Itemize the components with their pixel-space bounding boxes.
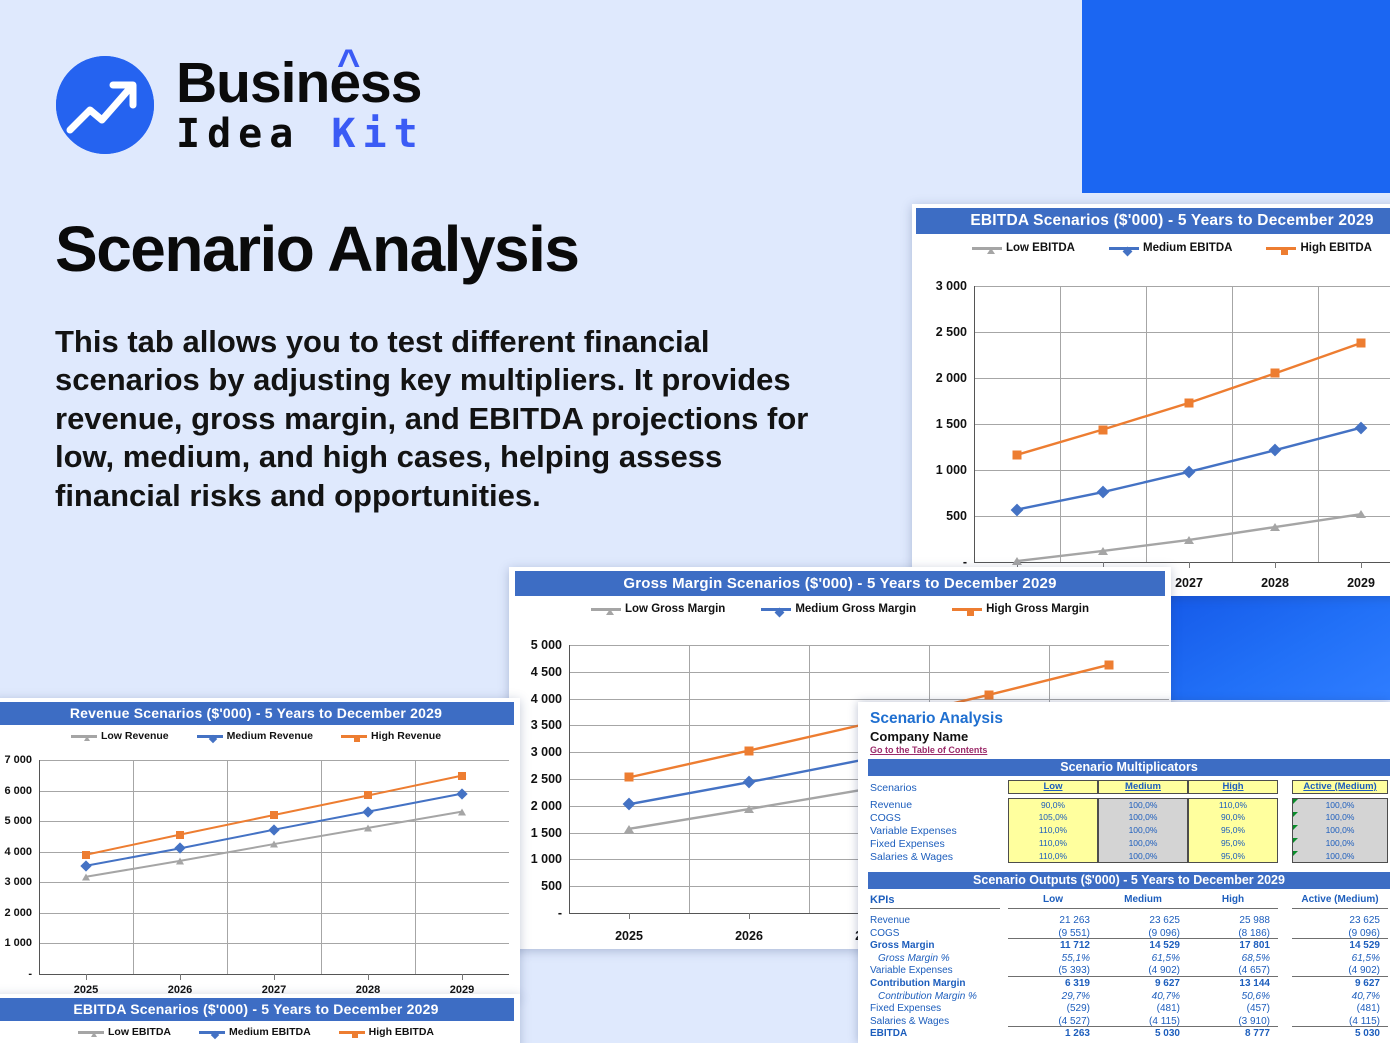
output-cell-medium: 23 625 — [1098, 915, 1180, 926]
marker-square — [1281, 248, 1288, 255]
legend-item-low-ebitda[interactable]: Low EBITDA — [78, 1026, 171, 1038]
chart-title: Revenue Scenarios ($'000) - 5 Years to D… — [0, 702, 514, 725]
multiplier-cell-medium[interactable]: 100,0% — [1098, 798, 1188, 811]
scenario-analysis-spreadsheet-panel[interactable]: Scenario Analysis Company Name Go to the… — [858, 702, 1390, 1043]
y-axis-tick-label: - — [514, 906, 562, 920]
output-cell-low: (4 527) — [1008, 1016, 1090, 1027]
y-axis-tick-label: 3 000 — [514, 745, 562, 759]
legend-label: High EBITDA — [369, 1026, 434, 1038]
marker-triangle — [270, 841, 278, 848]
output-cell-high: 50,6% — [1188, 991, 1270, 1002]
multiplier-cell-medium[interactable]: 100,0% — [1098, 824, 1188, 837]
multiplier-cell-active: 100,0% — [1292, 811, 1388, 824]
brand-name-line2: Idea Kit — [176, 114, 425, 154]
cell-comment-indicator-icon — [1293, 825, 1298, 830]
marker-triangle — [1356, 510, 1366, 518]
subtotal-rule — [1292, 976, 1388, 977]
output-cell-low: 55,1% — [1008, 953, 1090, 964]
marker-triangle — [624, 825, 634, 833]
legend-swatch — [952, 608, 982, 611]
legend-label: Medium EBITDA — [1143, 242, 1232, 254]
page-description: This tab allows you to test different fi… — [55, 323, 855, 515]
legend-item-high-gross-margin[interactable]: High Gross Margin — [952, 603, 1089, 615]
multiplier-cell-low[interactable]: 110,0% — [1008, 837, 1098, 850]
y-axis-tick-label: 5 000 — [0, 815, 32, 827]
marker-triangle — [458, 808, 466, 815]
x-axis-tick — [1189, 562, 1190, 568]
y-axis-tick-label: 3 500 — [514, 718, 562, 732]
multiplier-cell-high[interactable]: 95,0% — [1188, 837, 1278, 850]
marker-square — [458, 772, 466, 780]
legend-swatch — [199, 1031, 225, 1034]
marker-triangle — [744, 805, 754, 813]
y-axis-tick-label: 3 000 — [0, 876, 32, 888]
decorative-blue-block-middle — [1170, 588, 1390, 700]
y-axis-tick-label: 500 — [915, 509, 967, 523]
y-axis-tick-label: 500 — [514, 879, 562, 893]
subtotal-rule — [1008, 938, 1098, 939]
multiplier-cell-low[interactable]: 105,0% — [1008, 811, 1098, 824]
subtotal-rule — [1292, 1026, 1388, 1027]
multiplier-cell-medium[interactable]: 100,0% — [1098, 850, 1188, 863]
multiplier-row-label: Fixed Expenses — [870, 838, 945, 850]
multiplier-cell-low[interactable]: 110,0% — [1008, 824, 1098, 837]
x-axis-tick-label: 2028 — [1261, 576, 1289, 590]
subtotal-rule — [1292, 938, 1388, 939]
chart-title: EBITDA Scenarios ($'000) - 5 Years to De… — [916, 208, 1390, 234]
output-cell-high: (457) — [1188, 1003, 1270, 1014]
output-cell-high: 25 988 — [1188, 915, 1270, 926]
outputs-column-header-high: High — [1188, 894, 1278, 905]
output-row-label: Revenue — [870, 915, 1030, 926]
output-cell-active: 23 625 — [1292, 915, 1380, 926]
y-axis-tick-label: 2 500 — [915, 325, 967, 339]
chart-legend: Low Gross MarginMedium Gross MarginHigh … — [509, 603, 1171, 615]
legend-item-low-revenue[interactable]: Low Revenue — [71, 730, 169, 742]
marker-square — [1271, 369, 1280, 378]
output-row-label: EBITDA — [870, 1028, 1030, 1039]
multiplier-cell-high[interactable]: 95,0% — [1188, 850, 1278, 863]
subtotal-rule — [1188, 938, 1278, 939]
marker-square — [1013, 450, 1022, 459]
x-axis-tick-label: 2025 — [615, 929, 643, 943]
output-cell-active: (4 115) — [1292, 1016, 1380, 1027]
multiplier-row-label: Revenue — [870, 799, 912, 811]
marker-square — [364, 791, 372, 799]
legend-item-high-revenue[interactable]: High Revenue — [341, 730, 441, 742]
marker-diamond — [456, 788, 467, 799]
multiplier-cell-low[interactable]: 90,0% — [1008, 798, 1098, 811]
legend-label: High EBITDA — [1300, 242, 1372, 254]
multiplier-cell-active: 100,0% — [1292, 798, 1388, 811]
multiplier-cell-high[interactable]: 95,0% — [1188, 824, 1278, 837]
output-cell-low: (9 551) — [1008, 928, 1090, 939]
multiplier-cell-low[interactable]: 110,0% — [1008, 850, 1098, 863]
output-row-label: Fixed Expenses — [870, 1003, 1030, 1014]
subtotal-rule — [1098, 1026, 1188, 1027]
multiplier-cell-medium[interactable]: 100,0% — [1098, 837, 1188, 850]
output-cell-high: (8 186) — [1188, 928, 1270, 939]
chart-card-revenue[interactable]: Revenue Scenarios ($'000) - 5 Years to D… — [0, 698, 520, 998]
multiplier-column-header-medium[interactable]: Medium — [1098, 780, 1188, 794]
outputs-header-rule — [1188, 908, 1278, 909]
multipliers-row-header: Scenarios — [870, 782, 917, 794]
subtotal-rule — [1008, 976, 1098, 977]
chart-title: EBITDA Scenarios ($'000) - 5 Years to De… — [0, 998, 514, 1021]
marker-diamond — [1123, 247, 1133, 257]
multiplier-cell-high[interactable]: 110,0% — [1188, 798, 1278, 811]
decorative-blue-block-top — [1082, 0, 1390, 193]
table-of-contents-link[interactable]: Go to the Table of Contents — [870, 745, 987, 755]
outputs-header-rule — [1008, 908, 1098, 909]
x-axis-tick — [86, 974, 87, 980]
output-cell-medium: 61,5% — [1098, 953, 1180, 964]
output-cell-active: 9 627 — [1292, 978, 1380, 989]
multiplier-row-label: COGS — [870, 812, 901, 824]
chart-series-layer — [974, 286, 1390, 562]
output-row-label: Variable Expenses — [870, 965, 1030, 976]
brand-logo: Business ^ Idea Kit — [56, 55, 425, 154]
subtotal-rule — [1008, 1026, 1098, 1027]
legend-item-low-gross-margin[interactable]: Low Gross Margin — [591, 603, 725, 615]
marker-diamond — [268, 824, 279, 835]
legend-swatch — [972, 247, 1002, 250]
y-axis-tick-label: 4 500 — [514, 665, 562, 679]
marker-diamond — [1269, 444, 1282, 457]
marker-square — [985, 690, 994, 699]
output-cell-low: 21 263 — [1008, 915, 1090, 926]
cell-comment-indicator-icon — [1293, 838, 1298, 843]
marker-diamond — [208, 735, 216, 743]
marker-diamond — [211, 1031, 219, 1039]
marker-square — [82, 851, 90, 859]
y-axis-tick-label: 1 000 — [514, 852, 562, 866]
marker-triangle — [364, 824, 372, 831]
outputs-header-rule — [870, 908, 1000, 909]
marker-triangle — [1270, 523, 1280, 531]
y-axis-tick-label: 2 500 — [514, 772, 562, 786]
output-row-label: Gross Margin — [870, 940, 1030, 951]
marker-diamond — [362, 806, 373, 817]
legend-swatch — [339, 1031, 365, 1034]
marker-triangle — [1012, 557, 1022, 565]
output-cell-active: 61,5% — [1292, 953, 1380, 964]
y-axis-tick-label: - — [0, 968, 32, 980]
legend-label: Low EBITDA — [108, 1026, 171, 1038]
chart-legend: Low RevenueMedium RevenueHigh Revenue — [0, 730, 520, 742]
output-cell-medium: (481) — [1098, 1003, 1180, 1014]
legend-label: Low Revenue — [101, 730, 169, 742]
page-title: Scenario Analysis — [55, 212, 579, 286]
marker-square — [176, 831, 184, 839]
output-cell-active: 40,7% — [1292, 991, 1380, 1002]
outputs-column-header-medium: Medium — [1098, 894, 1188, 905]
marker-diamond — [1355, 421, 1368, 434]
multiplier-column-header-active[interactable]: Active (Medium) — [1292, 780, 1388, 794]
outputs-column-header-active: Active (Medium) — [1292, 894, 1388, 905]
legend-swatch — [591, 608, 621, 611]
marker-square — [1099, 425, 1108, 434]
legend-item-low-ebitda[interactable]: Low EBITDA — [972, 242, 1075, 254]
y-axis-tick-label: 3 000 — [915, 279, 967, 293]
marker-square — [352, 1032, 358, 1038]
y-axis-tick-label: 2 000 — [0, 907, 32, 919]
x-axis-tick — [629, 913, 630, 919]
subtotal-rule — [1188, 976, 1278, 977]
legend-swatch — [71, 735, 97, 738]
legend-swatch — [1266, 247, 1296, 250]
legend-label: Low EBITDA — [1006, 242, 1075, 254]
output-cell-medium: (9 096) — [1098, 928, 1180, 939]
multiplier-cell-active: 100,0% — [1292, 824, 1388, 837]
marker-diamond — [80, 860, 91, 871]
output-cell-medium: (4 115) — [1098, 1016, 1180, 1027]
output-cell-active: 14 529 — [1292, 940, 1380, 951]
multiplier-cell-active: 100,0% — [1292, 850, 1388, 863]
y-axis-tick-label: 5 000 — [514, 638, 562, 652]
legend-swatch — [1109, 247, 1139, 250]
outputs-header-rule — [1292, 908, 1388, 909]
y-axis-tick-label: 1 000 — [915, 463, 967, 477]
marker-diamond — [623, 798, 636, 811]
x-axis-tick-label: 2027 — [1175, 576, 1203, 590]
y-axis-tick-label: 4 000 — [0, 846, 32, 858]
y-axis-tick-label: 1 000 — [0, 937, 32, 949]
marker-square — [745, 746, 754, 755]
output-cell-medium: (4 902) — [1098, 965, 1180, 976]
output-cell-medium: 14 529 — [1098, 940, 1180, 951]
marker-diamond — [1183, 465, 1196, 478]
sheet-company-name: Company Name — [870, 729, 968, 744]
output-cell-medium: 40,7% — [1098, 991, 1180, 1002]
output-cell-low: 1 263 — [1008, 1028, 1090, 1039]
scenario-outputs-band: Scenario Outputs ($'000) - 5 Years to De… — [868, 872, 1390, 889]
growth-arrow-icon — [56, 56, 154, 154]
gridline-horizontal — [974, 562, 1390, 563]
chart-plot-area: -5001 0001 5002 0002 5003 00020252026202… — [974, 286, 1390, 562]
x-axis-tick — [749, 913, 750, 919]
marker-square — [625, 773, 634, 782]
output-cell-low: (529) — [1008, 1003, 1090, 1014]
legend-item-medium-ebitda[interactable]: Medium EBITDA — [1109, 242, 1232, 254]
y-axis-tick-label: 7 000 — [0, 754, 32, 766]
output-cell-high: (3 910) — [1188, 1016, 1270, 1027]
multiplier-cell-active: 100,0% — [1292, 837, 1388, 850]
marker-square — [354, 736, 360, 742]
x-axis-tick — [1275, 562, 1276, 568]
multiplier-column-header-high[interactable]: High — [1188, 780, 1278, 794]
brand-word-kit: Kit — [331, 111, 424, 157]
x-axis-tick — [180, 974, 181, 980]
y-axis-tick-label: 1 500 — [514, 826, 562, 840]
marker-square — [1105, 660, 1114, 669]
chart-legend: Low EBITDAMedium EBITDAHigh EBITDA — [912, 242, 1390, 254]
marker-triangle — [84, 736, 90, 741]
output-cell-low: (5 393) — [1008, 965, 1090, 976]
chart-title: Gross Margin Scenarios ($'000) - 5 Years… — [515, 571, 1165, 596]
brand-name-line1: Business ^ — [176, 55, 425, 112]
legend-label: Medium Revenue — [227, 730, 313, 742]
output-cell-medium: 5 030 — [1098, 1028, 1180, 1039]
brand-circumflex-accent: ^ — [337, 44, 359, 84]
legend-label: High Revenue — [371, 730, 441, 742]
cell-comment-indicator-icon — [1293, 799, 1298, 804]
marker-square — [1357, 339, 1366, 348]
legend-item-medium-revenue[interactable]: Medium Revenue — [197, 730, 313, 742]
output-cell-low: 11 712 — [1008, 940, 1090, 951]
multiplier-cell-medium[interactable]: 100,0% — [1098, 811, 1188, 824]
brand-word-idea: Idea — [176, 111, 331, 157]
output-cell-high: 17 801 — [1188, 940, 1270, 951]
marker-triangle — [82, 873, 90, 880]
brand-word-business: Business — [176, 51, 421, 115]
marker-triangle — [987, 248, 995, 254]
multiplier-row-label: Variable Expenses — [870, 825, 957, 837]
y-axis-tick-label: 4 000 — [514, 692, 562, 706]
output-cell-low: 6 319 — [1008, 978, 1090, 989]
marker-triangle — [91, 1032, 97, 1037]
output-cell-active: (4 902) — [1292, 965, 1380, 976]
legend-label: Medium EBITDA — [229, 1026, 311, 1038]
legend-label: Low Gross Margin — [625, 603, 725, 615]
output-cell-active: (481) — [1292, 1003, 1380, 1014]
cell-comment-indicator-icon — [1293, 851, 1298, 856]
output-cell-high: 8 777 — [1188, 1028, 1270, 1039]
legend-swatch — [197, 735, 223, 738]
outputs-column-header-low: Low — [1008, 894, 1098, 905]
output-cell-high: 13 144 — [1188, 978, 1270, 989]
output-cell-medium: 9 627 — [1098, 978, 1180, 989]
legend-label: High Gross Margin — [986, 603, 1089, 615]
y-axis-tick-label: 2 000 — [915, 371, 967, 385]
chart-series-layer — [39, 760, 509, 974]
marker-triangle — [176, 857, 184, 864]
y-axis-tick-label: 1 500 — [915, 417, 967, 431]
x-axis-tick-label: 2026 — [735, 929, 763, 943]
output-cell-low: 29,7% — [1008, 991, 1090, 1002]
marker-square — [967, 609, 974, 616]
marker-diamond — [1011, 503, 1024, 516]
marker-square — [270, 811, 278, 819]
cell-comment-indicator-icon — [1293, 812, 1298, 817]
subtotal-rule — [1098, 938, 1188, 939]
multiplier-row-label: Salaries & Wages — [870, 851, 953, 863]
x-axis-tick — [462, 974, 463, 980]
marker-diamond — [174, 843, 185, 854]
output-cell-high: 68,5% — [1188, 953, 1270, 964]
marker-diamond — [775, 608, 785, 618]
scenario-multiplicators-band: Scenario Multiplicators — [868, 759, 1390, 776]
chart-plot-area: -1 0002 0003 0004 0005 0006 0007 0002025… — [39, 760, 509, 974]
output-cell-active: (9 096) — [1292, 928, 1380, 939]
legend-swatch — [78, 1031, 104, 1034]
outputs-row-header: KPIs — [870, 894, 894, 906]
output-row-label: Salaries & Wages — [870, 1016, 1030, 1027]
marker-triangle — [1184, 536, 1194, 544]
y-axis-tick-label: 2 000 — [514, 799, 562, 813]
legend-item-medium-gross-margin[interactable]: Medium Gross Margin — [761, 603, 916, 615]
multiplier-cell-high[interactable]: 90,0% — [1188, 811, 1278, 824]
legend-swatch — [761, 608, 791, 611]
x-axis-tick-label: 2029 — [1347, 576, 1375, 590]
legend-label: Medium Gross Margin — [795, 603, 916, 615]
chart-legend: Low EBITDAMedium EBITDAHigh EBITDA — [0, 1026, 520, 1038]
marker-triangle — [606, 609, 614, 615]
sheet-title: Scenario Analysis — [870, 710, 1003, 728]
x-axis-tick — [368, 974, 369, 980]
output-row-label: COGS — [870, 928, 1030, 939]
subtotal-rule — [1098, 976, 1188, 977]
x-axis-tick — [1361, 562, 1362, 568]
marker-diamond — [1097, 486, 1110, 499]
marker-square — [1185, 398, 1194, 407]
marker-triangle — [1098, 547, 1108, 555]
y-axis-tick-label: 6 000 — [0, 785, 32, 797]
subtotal-rule — [1188, 1026, 1278, 1027]
legend-item-high-ebitda[interactable]: High EBITDA — [1266, 242, 1372, 254]
output-cell-high: (4 657) — [1188, 965, 1270, 976]
marker-diamond — [743, 776, 756, 789]
x-axis-tick — [274, 974, 275, 980]
outputs-header-rule — [1098, 908, 1188, 909]
legend-item-medium-ebitda[interactable]: Medium EBITDA — [199, 1026, 311, 1038]
chart-card-ebitda-top[interactable]: EBITDA Scenarios ($'000) - 5 Years to De… — [912, 204, 1390, 596]
chart-card-ebitda-bottom[interactable]: EBITDA Scenarios ($'000) - 5 Years to De… — [0, 994, 520, 1043]
output-cell-active: 5 030 — [1292, 1028, 1380, 1039]
output-row-label: Contribution Margin — [870, 978, 1030, 989]
multiplier-column-header-low[interactable]: Low — [1008, 780, 1098, 794]
legend-swatch — [341, 735, 367, 738]
legend-item-high-ebitda[interactable]: High EBITDA — [339, 1026, 434, 1038]
